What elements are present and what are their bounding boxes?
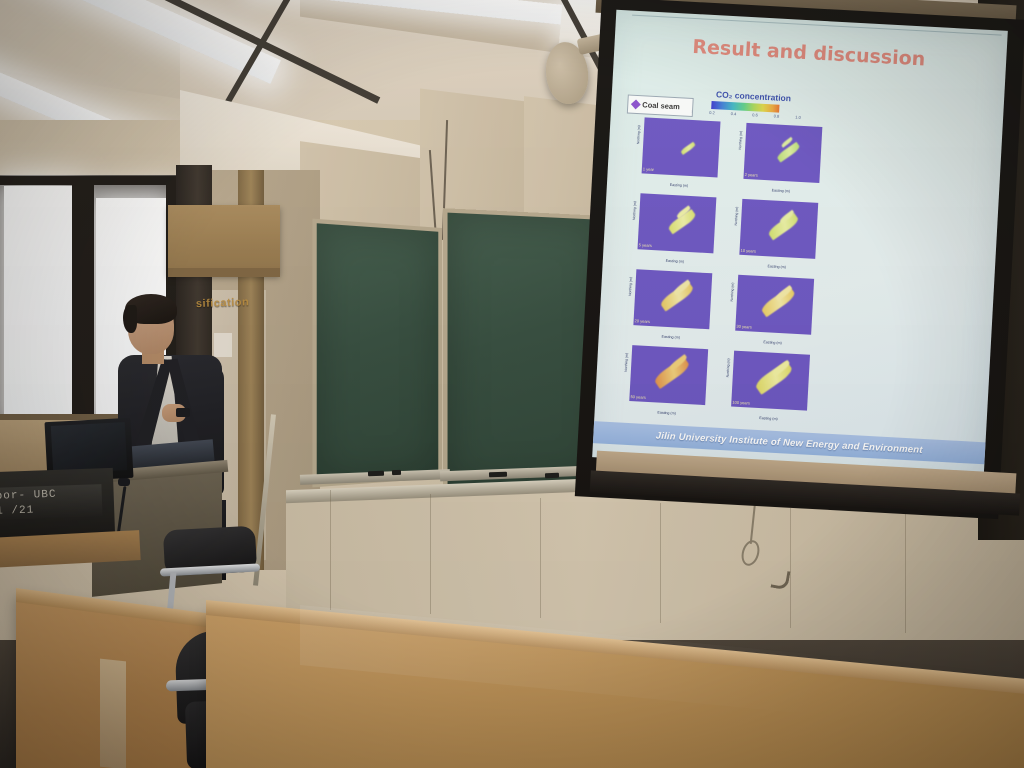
presenter-hair-side	[123, 305, 137, 333]
diamond-marker-icon	[631, 99, 641, 109]
chalkboard-eraser	[489, 472, 507, 478]
co2-plume	[653, 356, 692, 389]
posted-paper	[214, 333, 232, 357]
plot-panel: Easting (m)Northing (m)20 years	[627, 267, 719, 344]
chalkboard-left	[312, 219, 442, 488]
av-equipment-label: oor- UBC 1 /21	[0, 486, 101, 522]
av-label-line-2: 1 /21	[0, 501, 100, 520]
plot-panel: Easting (m)Northing (m)1 year	[635, 115, 727, 192]
co2-plume	[754, 361, 794, 395]
plot-grid: Easting (m)Northing (m)1 yearEasting (m)…	[623, 115, 829, 425]
projection-screen: Result and discussion CO₂ concentration …	[592, 10, 1008, 479]
colorbar-tick: 0.2	[709, 110, 715, 115]
lecture-room-photo: sification Result and discussion CO₂ con…	[0, 0, 1024, 768]
presentation-clicker	[176, 408, 190, 417]
plot-x-axis-label: Easting (m)	[733, 262, 821, 271]
plot-y-axis-label: Northing (m)	[730, 282, 735, 301]
panel-seam	[790, 508, 791, 628]
plot-panel-label: 10 years	[740, 248, 756, 254]
plot-panel: Easting (m)Northing (m)2 years	[737, 121, 829, 198]
plot-panel-label: 100 years	[732, 400, 750, 406]
plot-y-axis-label: Northing (m)	[632, 201, 637, 220]
plot-y-axis-label: Northing (m)	[624, 353, 629, 372]
plot-panel: Easting (m)Northing (m)10 years	[733, 196, 825, 273]
plot-x-axis-label: Easting (m)	[631, 257, 719, 266]
plot-y-axis-label: Northing (m)	[636, 125, 641, 144]
wall-sign-text: sification	[196, 296, 259, 314]
plot-panel-label: 50 years	[630, 394, 646, 400]
panel-seam	[430, 494, 431, 614]
panel-seam	[330, 490, 331, 610]
plot-x-axis-label: Easting (m)	[729, 338, 817, 347]
wall-cabinet	[168, 205, 280, 275]
slide-title: Result and discussion	[692, 36, 926, 71]
legend-coal-seam: Coal seam	[627, 94, 694, 117]
co2-plume	[760, 287, 797, 318]
table-apron	[100, 659, 126, 768]
panel-seam	[540, 498, 541, 618]
footer-text: Jilin University Institute of New Energy…	[656, 430, 923, 455]
plot-panel: Easting (m)Northing (m)30 years	[728, 272, 820, 349]
av-monitor-screen	[51, 422, 127, 474]
plot-panel-label: 2 years	[745, 172, 758, 178]
chalkboard-eraser	[392, 470, 401, 475]
plot-panel-label: 1 year	[643, 166, 654, 172]
plot-y-axis-label: Northing (m)	[738, 130, 743, 149]
plot-x-axis-label: Easting (m)	[635, 181, 723, 190]
plot-panel-label: 20 years	[635, 318, 651, 324]
plot-panel: Easting (m)Northing (m)100 years	[724, 348, 816, 425]
panel-seam	[660, 503, 661, 623]
colorbar-tick: 0.4	[731, 111, 737, 116]
plot-panel: Easting (m)Northing (m)50 years	[623, 343, 715, 420]
plot-x-axis-label: Easting (m)	[623, 409, 711, 418]
plot-y-axis-label: Northing (m)	[734, 206, 739, 225]
plot-panel-label: 5 years	[639, 242, 652, 248]
plot-x-axis-label: Easting (m)	[627, 333, 715, 342]
chalkboard-eraser	[368, 471, 384, 477]
plot-x-axis-label: Easting (m)	[737, 187, 825, 196]
chalkboard-eraser	[545, 473, 559, 478]
panel-seam	[905, 513, 906, 633]
plot-panel-label: 30 years	[736, 324, 752, 330]
co2-plume	[776, 142, 801, 163]
plot-x-axis-label: Easting (m)	[724, 414, 812, 423]
wall-cabinet-lip	[168, 268, 280, 277]
legend-label: Coal seam	[642, 100, 680, 111]
colorbar-tick: 0.6	[752, 112, 758, 117]
plot-y-axis-label: Northing (m)	[628, 277, 633, 296]
plot-panel: Easting (m)Northing (m)5 years	[631, 191, 723, 268]
microphone-head	[118, 478, 130, 486]
co2-plume	[680, 141, 696, 154]
window-mullion	[72, 178, 94, 428]
colorbar-tick: 0.8	[774, 113, 780, 118]
window-pane	[4, 186, 72, 426]
colorbar-tick: 1.0	[795, 115, 801, 120]
plot-y-axis-label: Northing (m)	[726, 358, 731, 377]
